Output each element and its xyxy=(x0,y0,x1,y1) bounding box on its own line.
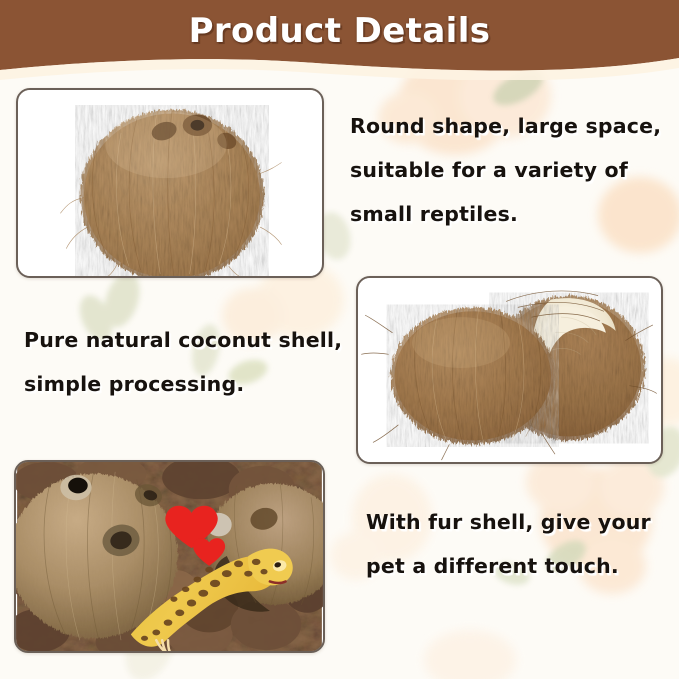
header-banner xyxy=(0,0,679,80)
photo-panel-coconut-whole xyxy=(16,88,324,278)
photo-panel-gecko-in-coconut-hide xyxy=(14,460,325,653)
caption-fur-shell: With fur shell, give your pet a differen… xyxy=(366,500,672,588)
caption-pure-natural: Pure natural coconut shell, simple proce… xyxy=(24,318,344,406)
product-details-infographic: Product Details xyxy=(0,0,679,679)
caption-round-shape: Round shape, large space, suitable for a… xyxy=(350,104,670,236)
photo-panel-coconut-halves xyxy=(356,276,663,464)
